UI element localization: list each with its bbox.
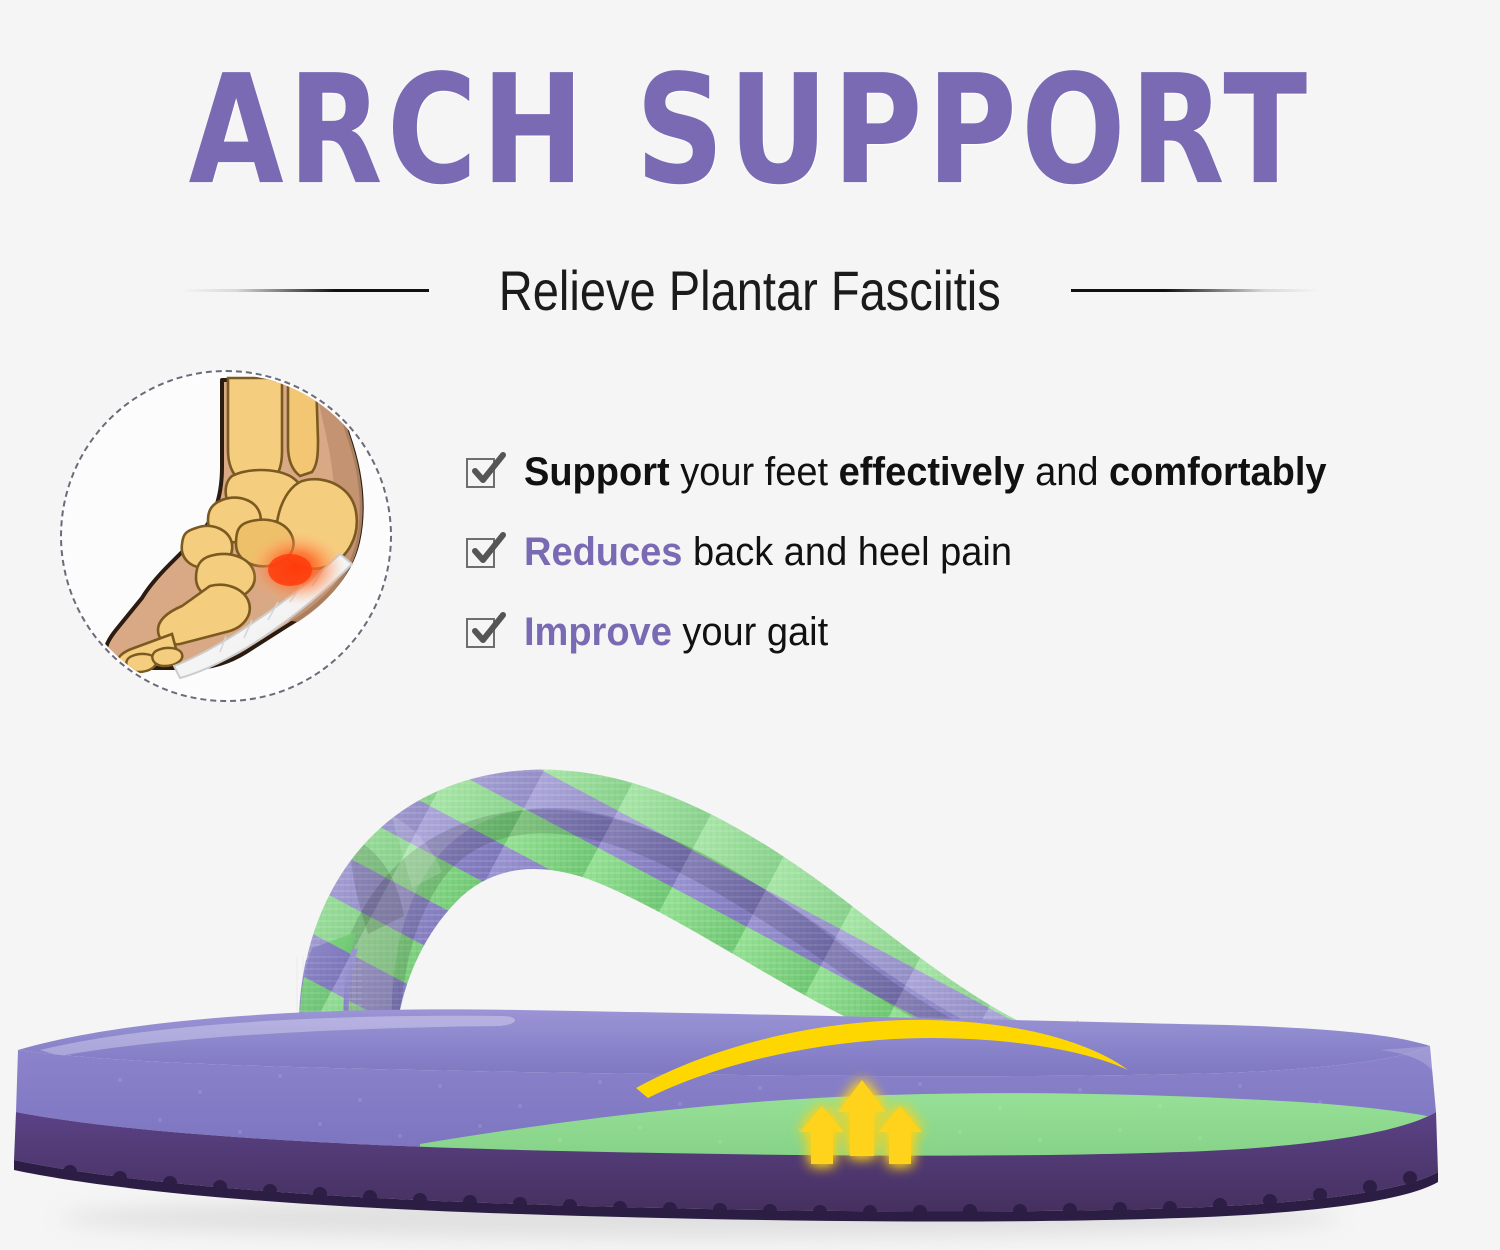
checkbox-checked-icon [466, 534, 500, 570]
feature-1-seg-1: your feet [670, 450, 839, 494]
checkbox-checked-icon [466, 614, 500, 650]
foot-anatomy-illustration [60, 370, 392, 702]
checkbox-checked-icon [466, 454, 500, 490]
divider-line-right [1071, 289, 1319, 292]
feature-2-seg-1: back and heel pain [682, 530, 1012, 574]
feature-list: Support your feet effectively and comfor… [466, 432, 1476, 672]
page-subtitle: Relieve Plantar Fasciitis [499, 258, 1001, 323]
list-item: Improve your gait [466, 592, 1476, 672]
divider-line-left [181, 289, 429, 292]
product-image-sandal [0, 720, 1500, 1250]
list-item: Reduces back and heel pain [466, 512, 1476, 592]
feature-text-2: Reduces back and heel pain [524, 530, 1012, 574]
feature-1-seg-3: and [1025, 450, 1110, 494]
page-title: ARCH SUPPORT [0, 56, 1500, 207]
feature-3-seg-1: your gait [672, 610, 828, 654]
feature-1-seg-2: effectively [839, 450, 1025, 494]
feature-3-seg-0: Improve [524, 610, 672, 654]
feature-1-seg-4: comfortably [1109, 450, 1326, 494]
list-item: Support your feet effectively and comfor… [466, 432, 1476, 512]
feature-2-seg-0: Reduces [524, 530, 682, 574]
feature-text-1: Support your feet effectively and comfor… [524, 450, 1327, 494]
subtitle-row: Relieve Plantar Fasciitis [0, 258, 1500, 323]
feature-1-seg-0: Support [524, 450, 670, 494]
feature-text-3: Improve your gait [524, 610, 828, 654]
sandal-illustration [0, 720, 1500, 1250]
foot-anatomy-icon [62, 372, 390, 700]
